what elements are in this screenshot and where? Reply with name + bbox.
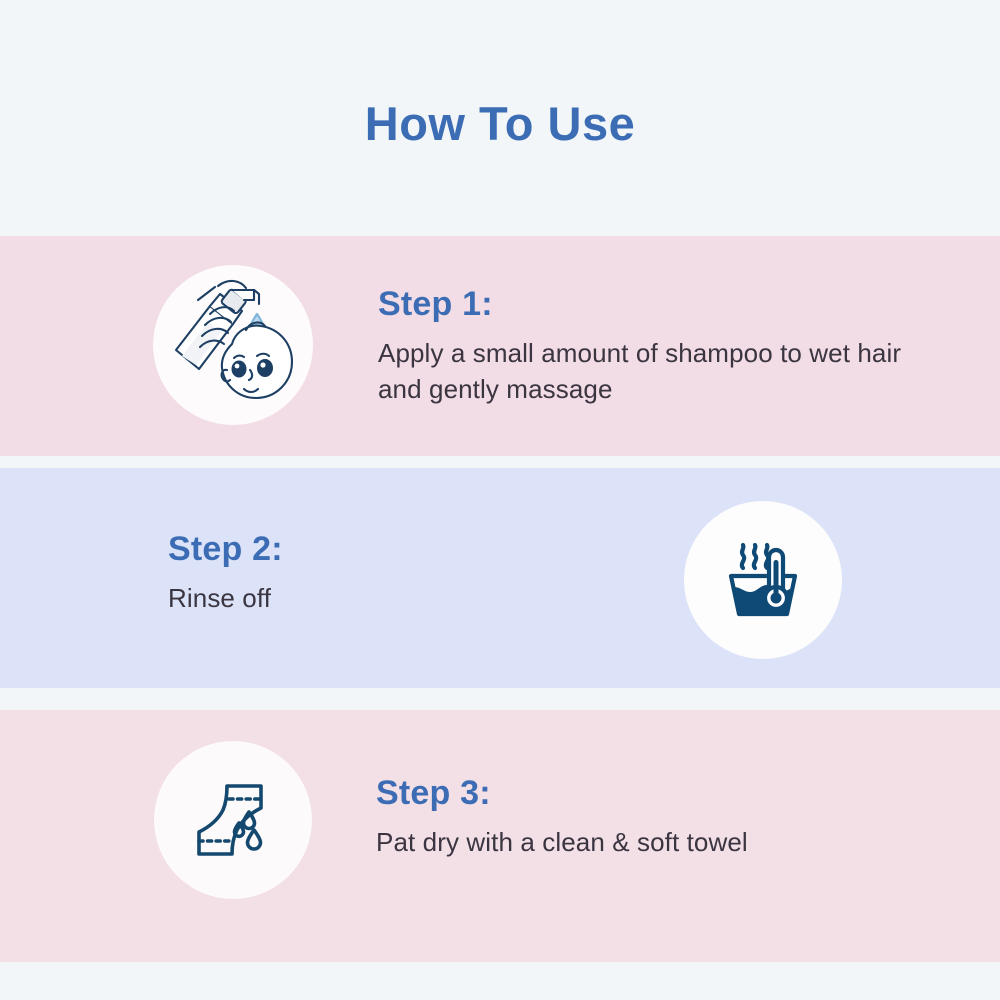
warm-water-basin-thermometer-icon (717, 534, 809, 626)
page-title: How To Use (0, 96, 1000, 152)
step-3-icon-circle (154, 741, 312, 899)
step-2-description: Rinse off (168, 580, 628, 616)
step-2-text-block: Step 2: Rinse off (168, 528, 628, 616)
step-1-label: Step 1: (378, 283, 918, 325)
step-3-description: Pat dry with a clean & soft towel (376, 824, 916, 860)
step-1-icon-circle (153, 265, 313, 425)
step-2-icon-circle (684, 501, 842, 659)
shampoo-bottle-baby-head-icon (158, 270, 308, 420)
step-3-label: Step 3: (376, 772, 916, 814)
step-2-label: Step 2: (168, 528, 628, 570)
towel-water-droplets-icon (187, 774, 279, 866)
step-1-description: Apply a small amount of shampoo to wet h… (378, 335, 918, 407)
how-to-use-infographic: How To Use (0, 0, 1000, 1000)
step-1-text-block: Step 1: Apply a small amount of shampoo … (378, 283, 918, 407)
step-3-text-block: Step 3: Pat dry with a clean & soft towe… (376, 772, 916, 860)
